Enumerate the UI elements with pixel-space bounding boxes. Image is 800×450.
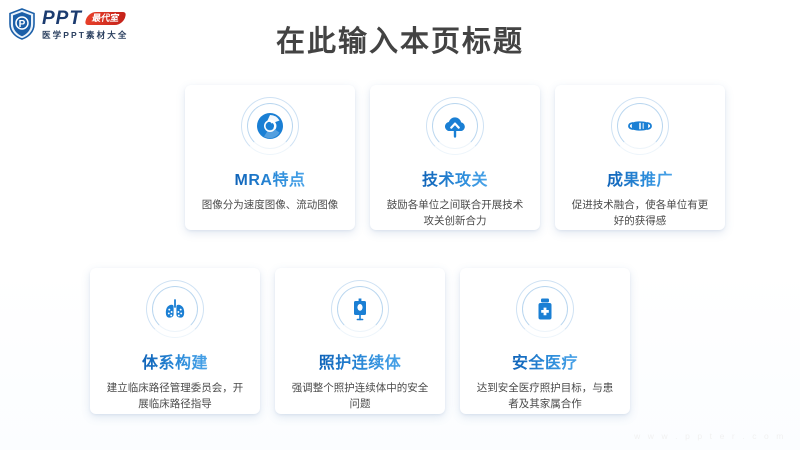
feature-card-promotion[interactable]: 成果推广 促进技术融合，使各单位有更好的获得感 <box>555 85 725 230</box>
icon-badge <box>239 95 301 157</box>
card-title: 体系构建 <box>142 349 208 373</box>
card-description: 促进技术融合，使各单位有更好的获得感 <box>569 197 711 230</box>
card-title: 照护连续体 <box>319 349 402 373</box>
card-title: 成果推广 <box>607 166 673 190</box>
lungs-icon <box>160 294 190 324</box>
page-title: 在此输入本页标题 <box>0 18 800 60</box>
feature-card-mra[interactable]: MRA特点 图像分为速度图像、流动图像 <box>185 85 355 230</box>
feature-card-system[interactable]: 体系构建 建立临床路径管理委员会，开展临床路径指导 <box>90 268 260 414</box>
card-title: 安全医疗 <box>512 349 578 373</box>
card-title: MRA特点 <box>235 166 306 190</box>
card-description: 强调整个照护连续体中的安全问题 <box>289 380 431 413</box>
medicine-bottle-icon <box>530 294 560 324</box>
site-watermark: w w w . p p t e r . c o m <box>634 431 786 441</box>
card-row-bottom: 体系构建 建立临床路径管理委员会，开展临床路径指导 照护连续体 <box>90 268 630 414</box>
feature-card-tech[interactable]: 技术攻关 鼓励各单位之间联合开展技术攻关创新合力 <box>370 85 540 230</box>
icon-badge <box>144 278 206 340</box>
icon-badge <box>514 278 576 340</box>
card-description: 图像分为速度图像、流动图像 <box>199 197 341 213</box>
iv-bag-icon <box>345 294 375 324</box>
cloud-upload-icon <box>440 111 470 141</box>
icon-badge <box>329 278 391 340</box>
slide-canvas: P PPT 最代室 医学PPT素材大全 在此输入本页标题 <box>0 0 800 450</box>
card-row-top: MRA特点 图像分为速度图像、流动图像 技术攻关 鼓励各单位之间联合开展技术攻关… <box>185 85 725 230</box>
card-description: 鼓励各单位之间联合开展技术攻关创新合力 <box>384 197 526 230</box>
card-description: 达到安全医疗照护目标，与患者及其家属合作 <box>474 380 616 413</box>
card-description: 建立临床路径管理委员会，开展临床路径指导 <box>104 380 246 413</box>
face-mask-icon <box>625 111 655 141</box>
feature-card-safe-medical[interactable]: 安全医疗 达到安全医疗照护目标，与患者及其家属合作 <box>460 268 630 414</box>
feature-card-care-continuum[interactable]: 照护连续体 强调整个照护连续体中的安全问题 <box>275 268 445 414</box>
icon-badge <box>609 95 671 157</box>
icon-badge <box>424 95 486 157</box>
chrome-spiral-icon <box>255 111 285 141</box>
card-title: 技术攻关 <box>422 166 488 190</box>
